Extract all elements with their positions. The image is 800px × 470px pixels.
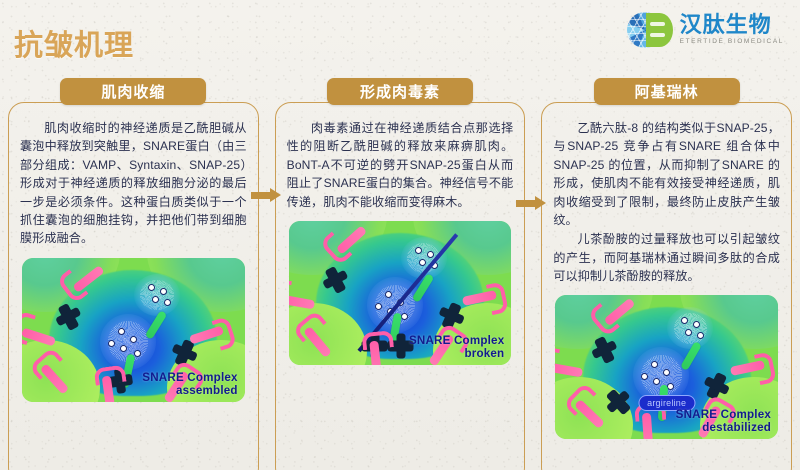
sphere-leaf-logo-icon [627,10,673,50]
receptor-bottom [642,413,653,439]
figure-caption-line2: destabilized [676,421,771,434]
brand-subtitle: ETERTIDE BIOMEDICAL [680,39,784,46]
figure-caption-line1: SNARE Complex [676,408,771,421]
brand-text: 汉肽生物 ETERTIDE BIOMEDICAL [680,14,784,46]
column-body-2: 肉毒素通过在神经递质结合点那选择性的阻断乙酰胆碱的释放来麻痹肌肉。BoNT-A不… [277,105,524,365]
arrow-right-icon-1 [251,188,281,202]
column-header-1: 肌肉收缩 [60,78,206,105]
column-argireline: 阿基瑞林 乙酰六肽-8 的结构类似于SNAP-25，与SNAP-25 竞争占有S… [533,78,800,470]
column-header-2: 形成肉毒素 [327,78,473,105]
column-body-3: 乙酰六肽-8 的结构类似于SNAP-25，与SNAP-25 竞争占有SNARE … [543,105,790,439]
column-body-1: 肌肉收缩时的神经递质是乙酰胆碱从囊泡中释放到突触里，SNARE蛋白（由三部分组成… [10,105,257,402]
figure-caption-2: SNARE Complex broken [409,334,504,360]
column-3-paragraph-2: 儿茶酚胺的过量释放也可以引起皱纹的产生，而阿基瑞林通过瞬间多肽的合成可以抑制儿茶… [553,230,780,285]
mechanism-columns: 肌肉收缩 肌肉收缩时的神经递质是乙酰胆碱从囊泡中释放到突触里，SNARE蛋白（由… [0,78,800,470]
column-3-paragraph-1: 乙酰六肽-8 的结构类似于SNAP-25，与SNAP-25 竞争占有SNARE … [553,119,780,229]
brand-logo: 汉肽生物 ETERTIDE BIOMEDICAL [627,10,784,50]
synapse-figure-destabilized: argireline SNARE Complex destabilized [555,295,778,439]
figure-caption-line1: SNARE Complex [142,371,237,384]
figure-caption-line2: assembled [142,384,237,397]
arrow-right-icon-2 [516,196,546,210]
logo-leaf-shape [646,13,673,47]
vesicle-upper-right [134,274,180,316]
brand-name: 汉肽生物 [680,14,784,36]
figure-caption-line1: SNARE Complex [409,334,504,347]
column-botulinum-formation: 形成肉毒素 肉毒素通过在神经递质结合点那选择性的阻断乙酰胆碱的释放来麻痹肌肉。B… [267,78,534,470]
column-header-3: 阿基瑞林 [594,78,740,105]
figure-caption-3: SNARE Complex destabilized [676,408,771,434]
synapse-figure-broken: SNARE Complex broken [289,221,512,365]
column-1-paragraph-1: 肌肉收缩时的神经递质是乙酰胆碱从囊泡中释放到突触里，SNARE蛋白（由三部分组成… [20,119,247,248]
synapse-figure-assembled: SNARE Complex assembled [22,258,245,402]
receptor-bottom [369,340,382,364]
figure-caption-line2: broken [409,347,504,360]
figure-caption-1: SNARE Complex assembled [142,371,237,397]
column-muscle-contraction: 肌肉收缩 肌肉收缩时的神经递质是乙酰胆碱从囊泡中释放到突触里，SNARE蛋白（由… [0,78,267,470]
page-title: 抗皱机理 [14,22,134,64]
column-2-paragraph-1: 肉毒素通过在神经递质结合点那选择性的阻断乙酰胆碱的释放来麻痹肌肉。BoNT-A不… [287,119,514,211]
